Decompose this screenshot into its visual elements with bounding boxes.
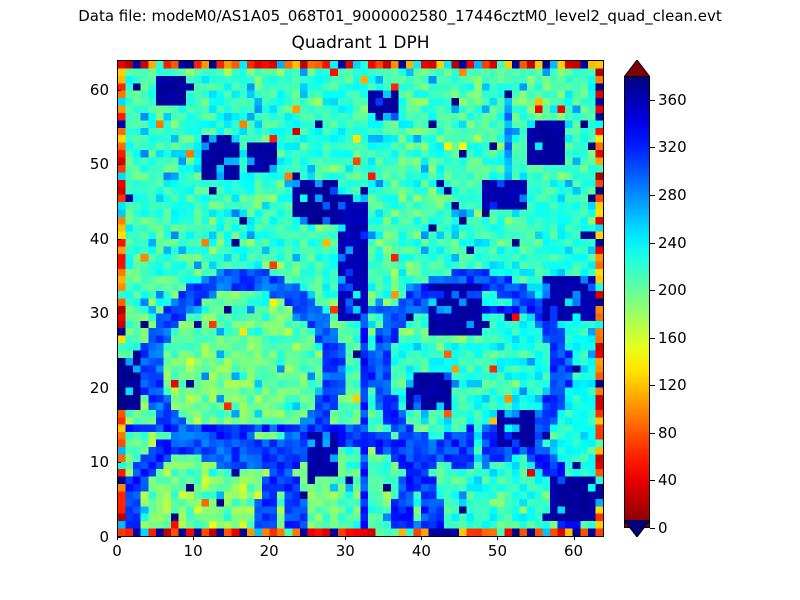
colorbar-tick-label: 200: [658, 281, 687, 299]
x-axis-tick: [193, 536, 194, 540]
figure-canvas: Data file: modeM0/AS1A05_068T01_90000025…: [0, 0, 800, 600]
y-axis-tick: [117, 239, 121, 240]
colorbar-tick-label: 40: [658, 471, 677, 489]
colorbar-tick: [650, 195, 655, 196]
colorbar-tick: [650, 385, 655, 386]
colorbar-gradient: [625, 77, 649, 527]
x-axis-tick: [345, 536, 346, 540]
x-axis-tick: [497, 536, 498, 540]
colorbar-extend-max-arrow-icon: [624, 60, 650, 77]
colorbar-tick: [650, 433, 655, 434]
x-axis-tick-label: 60: [564, 542, 583, 560]
colorbar-tick: [650, 528, 655, 529]
colorbar-tick: [650, 480, 655, 481]
y-axis-tick-label: 20: [65, 379, 109, 397]
y-axis-tick: [117, 462, 121, 463]
y-axis-tick: [117, 537, 121, 538]
colorbar-extend-min-arrow-icon: [624, 520, 650, 537]
colorbar-tick-label: 360: [658, 91, 687, 109]
colorbar-tick-label: 320: [658, 138, 687, 156]
x-axis-tick-label: 50: [488, 542, 507, 560]
y-axis-tick-label: 40: [65, 230, 109, 248]
x-axis-tick-label: 40: [412, 542, 431, 560]
colorbar-body[interactable]: [624, 76, 650, 528]
colorbar-tick-label: 120: [658, 376, 687, 394]
y-axis-tick: [117, 164, 121, 165]
x-axis-tick: [421, 536, 422, 540]
colorbar-tick: [650, 147, 655, 148]
y-axis-tick-label: 50: [65, 155, 109, 173]
colorbar-tick: [650, 338, 655, 339]
colorbar-tick: [650, 100, 655, 101]
colorbar-tick-label: 240: [658, 234, 687, 252]
colorbar-tick: [650, 290, 655, 291]
colorbar-tick: [650, 243, 655, 244]
heatmap-axes[interactable]: [117, 60, 604, 537]
y-axis-tick-label: 0: [65, 528, 109, 546]
detector-heatmap-image[interactable]: [118, 61, 603, 536]
x-axis-tick: [269, 536, 270, 540]
y-axis-tick: [117, 388, 121, 389]
x-axis-tick-label: 30: [336, 542, 355, 560]
colorbar-tick-label: 80: [658, 424, 677, 442]
page-title: Quadrant 1 DPH: [117, 33, 604, 53]
colorbar[interactable]: 04080120160200240280320360: [624, 60, 650, 537]
data-file-title: Data file: modeM0/AS1A05_068T01_90000025…: [0, 7, 800, 25]
x-axis-tick: [574, 536, 575, 540]
y-axis-tick: [117, 313, 121, 314]
x-axis-tick-label: 0: [112, 542, 122, 560]
y-axis-tick: [117, 90, 121, 91]
colorbar-tick-label: 0: [658, 519, 668, 537]
colorbar-tick-label: 280: [658, 186, 687, 204]
y-axis-tick-label: 60: [65, 81, 109, 99]
x-axis-tick-label: 20: [260, 542, 279, 560]
y-axis-tick-label: 10: [65, 453, 109, 471]
x-axis-tick-label: 10: [184, 542, 203, 560]
colorbar-tick-label: 160: [658, 329, 687, 347]
y-axis-tick-label: 30: [65, 304, 109, 322]
